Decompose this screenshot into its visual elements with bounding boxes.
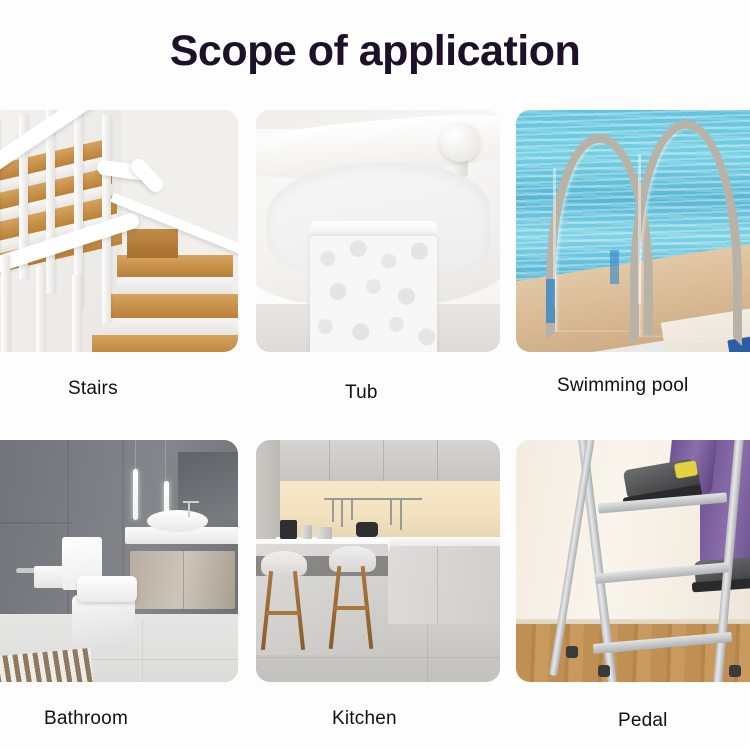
bathroom-photo (0, 440, 238, 682)
page-title: Scope of application (0, 28, 750, 75)
grid-cell-tub[interactable] (256, 110, 500, 352)
grid-cell-swimming-pool[interactable] (516, 110, 750, 352)
caption-pedal: Pedal (618, 710, 668, 732)
caption-bathroom: Bathroom (44, 708, 128, 730)
infographic-page: Scope of application (0, 0, 750, 750)
stairs-photo (0, 110, 238, 352)
grid-cell-bathroom[interactable] (0, 440, 238, 682)
caption-kitchen: Kitchen (332, 708, 397, 730)
caption-stairs: Stairs (68, 378, 118, 400)
caption-swimming-pool: Swimming pool (557, 375, 688, 397)
pedal-photo (516, 440, 750, 682)
grid-cell-stairs[interactable] (0, 110, 238, 352)
caption-tub: Tub (345, 382, 378, 404)
grid-cell-kitchen[interactable] (256, 440, 500, 682)
bar-stool (261, 551, 307, 648)
tub-photo (256, 110, 500, 352)
bar-stool (329, 546, 375, 643)
grid-cell-pedal[interactable] (516, 440, 750, 682)
swimming-pool-photo (516, 110, 750, 352)
kitchen-photo (256, 440, 500, 682)
